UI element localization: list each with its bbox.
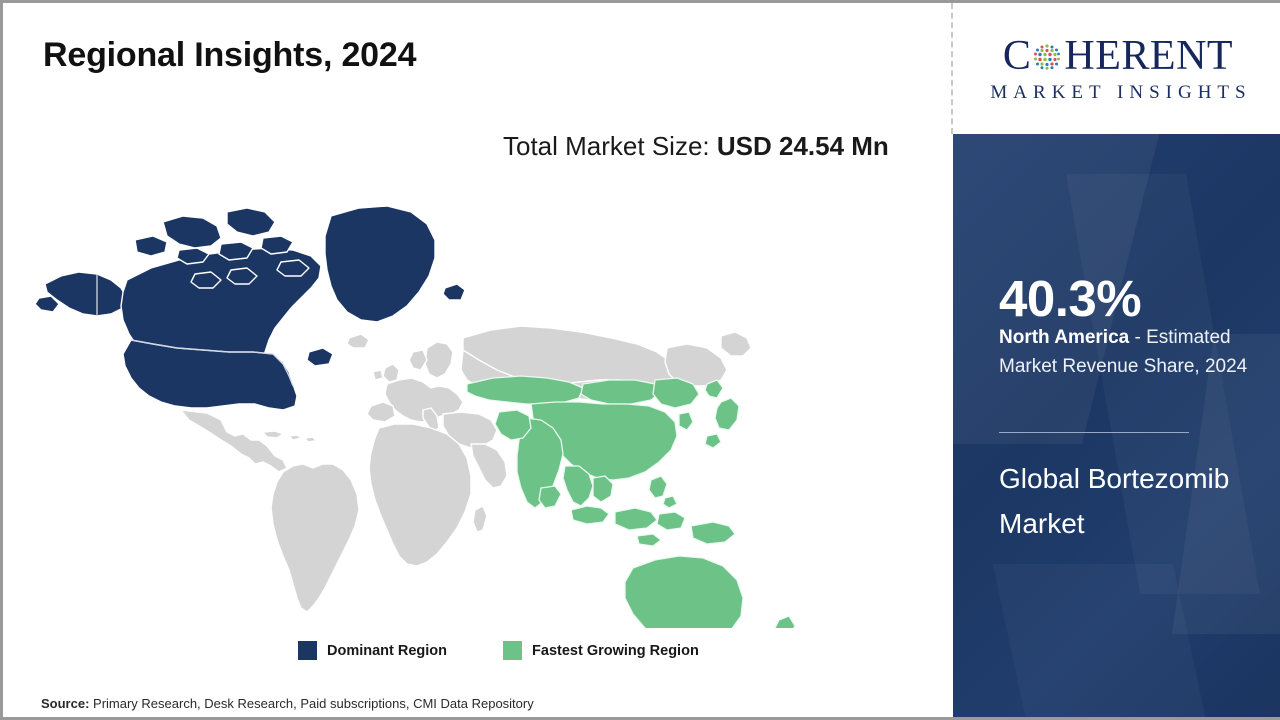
world-map-svg — [31, 188, 831, 628]
total-market-size-value: USD 24.54 Mn — [717, 131, 889, 161]
logo-subtitle: MARKET INSIGHTS — [984, 82, 1251, 104]
market-name: Global Bortezomib Market — [999, 456, 1249, 547]
legend-item-dominant: Dominant Region — [298, 641, 447, 660]
logo-letter-c: C — [1003, 35, 1032, 77]
source-label: Source: — [41, 696, 89, 711]
dotted-globe-icon — [1031, 41, 1063, 73]
world-map — [31, 188, 831, 628]
source-text: Primary Research, Desk Research, Paid su… — [89, 696, 533, 711]
right-sidebar: C — [953, 3, 1280, 720]
brand-logo: C — [953, 3, 1280, 134]
square-swatch-icon — [298, 641, 317, 660]
square-swatch-icon — [503, 641, 522, 660]
panel-divider-rule — [999, 432, 1189, 433]
total-market-size: Total Market Size: USD 24.54 Mn — [503, 127, 923, 165]
regional-stat-panel: 40.3% North America - Estimated Market R… — [953, 134, 1280, 720]
source-note: Source: Primary Research, Desk Research,… — [41, 696, 534, 711]
legend-item-fastest: Fastest Growing Region — [503, 641, 699, 660]
share-description: North America - Estimated Market Revenue… — [999, 324, 1269, 382]
share-percentage: 40.3% — [999, 273, 1141, 324]
legend-label-fastest: Fastest Growing Region — [532, 643, 699, 659]
page-title: Regional Insights, 2024 — [43, 36, 416, 75]
map-region-fastest — [467, 376, 795, 628]
logo-wordmark: C — [1003, 34, 1233, 78]
left-content-panel: Regional Insights, 2024 Total Market Siz… — [3, 3, 952, 720]
slide-canvas: Regional Insights, 2024 Total Market Siz… — [0, 0, 1280, 720]
total-market-size-label: Total Market Size: — [503, 131, 717, 161]
share-region-name: North America — [999, 327, 1129, 348]
panel-texture — [993, 564, 1213, 720]
map-legend: Dominant Region Fastest Growing Region — [298, 641, 699, 660]
legend-label-dominant: Dominant Region — [327, 643, 447, 659]
logo-word-rest: HERENT — [1064, 35, 1233, 77]
